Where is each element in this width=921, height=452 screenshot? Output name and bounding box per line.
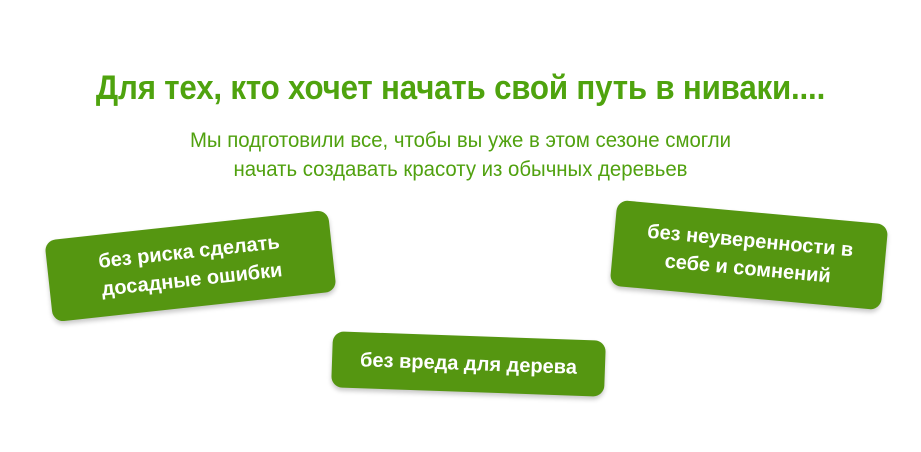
badge-no-self-doubt: без неуверенности в себе и сомнений (610, 200, 889, 310)
page-subtitle: Мы подготовили все, чтобы вы уже в этом … (14, 126, 907, 184)
badge-no-tree-harm: без вреда для дерева (331, 331, 606, 396)
page-title: Для тех, кто хочет начать свой путь в ни… (37, 67, 884, 109)
badge-no-risk: без риска сделать досадные ошибки (44, 210, 336, 322)
badge-no-risk-text: без риска сделать досадные ошибки (62, 225, 320, 308)
badge-no-tree-harm-text: без вреда для дерева (348, 347, 590, 381)
badge-no-self-doubt-text: без неуверенности в себе и сомнений (625, 216, 873, 294)
page-subtitle-line-1: Мы подготовили все, чтобы вы уже в этом … (14, 126, 907, 155)
page-subtitle-line-2: начать создавать красоту из обычных дере… (14, 155, 907, 184)
promo-section: Для тех, кто хочет начать свой путь в ни… (0, 0, 921, 452)
